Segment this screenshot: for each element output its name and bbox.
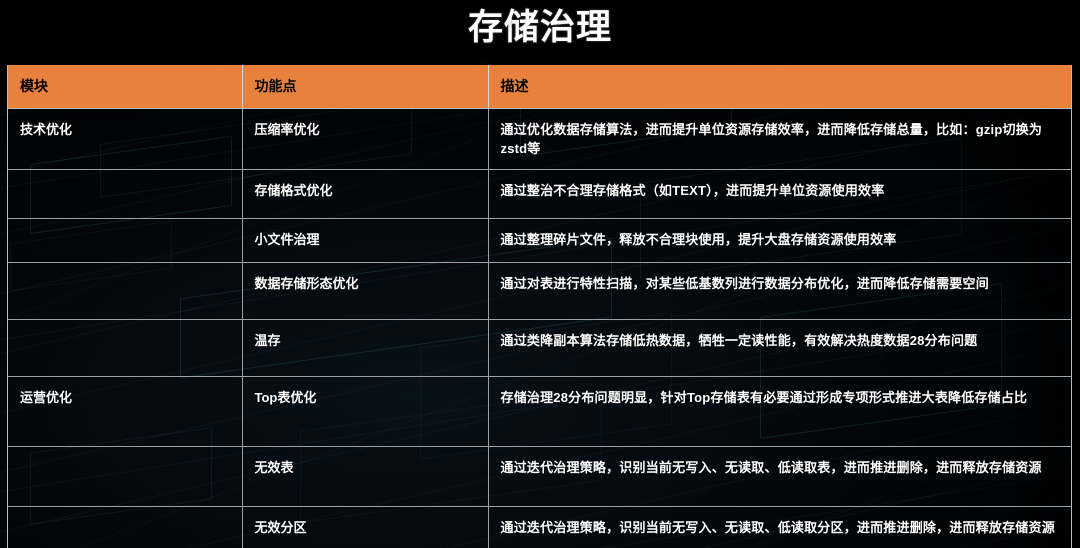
cell-feature: 无效表	[242, 447, 488, 507]
storage-governance-table: 模块 功能点 描述 技术优化 压缩率优化 通过优化数据存储算法，进而提升单位资源…	[7, 65, 1072, 548]
slide-canvas: 存储治理 模块 功能点 描述 技术优化 压缩率优化 通过优化数据存储算法，进而提…	[0, 0, 1080, 548]
cell-feature: 存储格式优化	[242, 170, 488, 219]
cell-module	[8, 219, 242, 263]
table-row: 运营优化 Top表优化 存储治理28分布问题明显，针对Top存储表有必要通过形成…	[8, 377, 1071, 447]
column-header-module: 模块	[8, 65, 242, 109]
cell-description: 通过类降副本算法存储低热数据，牺牲一定读性能，有效解决热度数据28分布问题	[488, 320, 1071, 377]
cell-feature: 压缩率优化	[242, 109, 488, 170]
cell-description: 通过对表进行特性扫描，对某些低基数列进行数据分布优化，进而降低存储需要空间	[488, 263, 1071, 320]
cell-module	[8, 263, 242, 320]
page-title: 存储治理	[0, 4, 1080, 52]
table-row: 无效分区 通过迭代治理策略，识别当前无写入、无读取、低读取分区，进而推进删除，进…	[8, 507, 1071, 548]
table-row: 无效表 通过迭代治理策略，识别当前无写入、无读取、低读取表，进而推进删除，进而释…	[8, 447, 1071, 507]
cell-description: 通过整治不合理存储格式（如TEXT），进而提升单位资源使用效率	[488, 170, 1071, 219]
cell-feature: 无效分区	[242, 507, 488, 548]
column-header-description: 描述	[488, 65, 1071, 109]
cell-module: 技术优化	[8, 109, 242, 170]
table-row: 技术优化 压缩率优化 通过优化数据存储算法，进而提升单位资源存储效率，进而降低存…	[8, 109, 1071, 170]
table-row: 数据存储形态优化 通过对表进行特性扫描，对某些低基数列进行数据分布优化，进而降低…	[8, 263, 1071, 320]
table-row: 小文件治理 通过整理碎片文件，释放不合理块使用，提升大盘存储资源使用效率	[8, 219, 1071, 263]
cell-feature: Top表优化	[242, 377, 488, 447]
cell-module	[8, 170, 242, 219]
table-row: 存储格式优化 通过整治不合理存储格式（如TEXT），进而提升单位资源使用效率	[8, 170, 1071, 219]
cell-description: 通过迭代治理策略，识别当前无写入、无读取、低读取分区，进而推进删除，进而释放存储…	[488, 507, 1071, 548]
cell-feature: 小文件治理	[242, 219, 488, 263]
cell-feature: 数据存储形态优化	[242, 263, 488, 320]
cell-description: 通过优化数据存储算法，进而提升单位资源存储效率，进而降低存储总量，比如：gzip…	[488, 109, 1071, 170]
cell-module	[8, 507, 242, 548]
cell-description: 通过整理碎片文件，释放不合理块使用，提升大盘存储资源使用效率	[488, 219, 1071, 263]
cell-description: 存储治理28分布问题明显，针对Top存储表有必要通过形成专项形式推进大表降低存储…	[488, 377, 1071, 447]
table-row: 温存 通过类降副本算法存储低热数据，牺牲一定读性能，有效解决热度数据28分布问题	[8, 320, 1071, 377]
column-header-feature: 功能点	[242, 65, 488, 109]
cell-module: 运营优化	[8, 377, 242, 447]
cell-description: 通过迭代治理策略，识别当前无写入、无读取、低读取表，进而推进删除，进而释放存储资…	[488, 447, 1071, 507]
cell-module	[8, 447, 242, 507]
cell-module	[8, 320, 242, 377]
cell-feature: 温存	[242, 320, 488, 377]
table-header-row: 模块 功能点 描述	[8, 65, 1071, 109]
